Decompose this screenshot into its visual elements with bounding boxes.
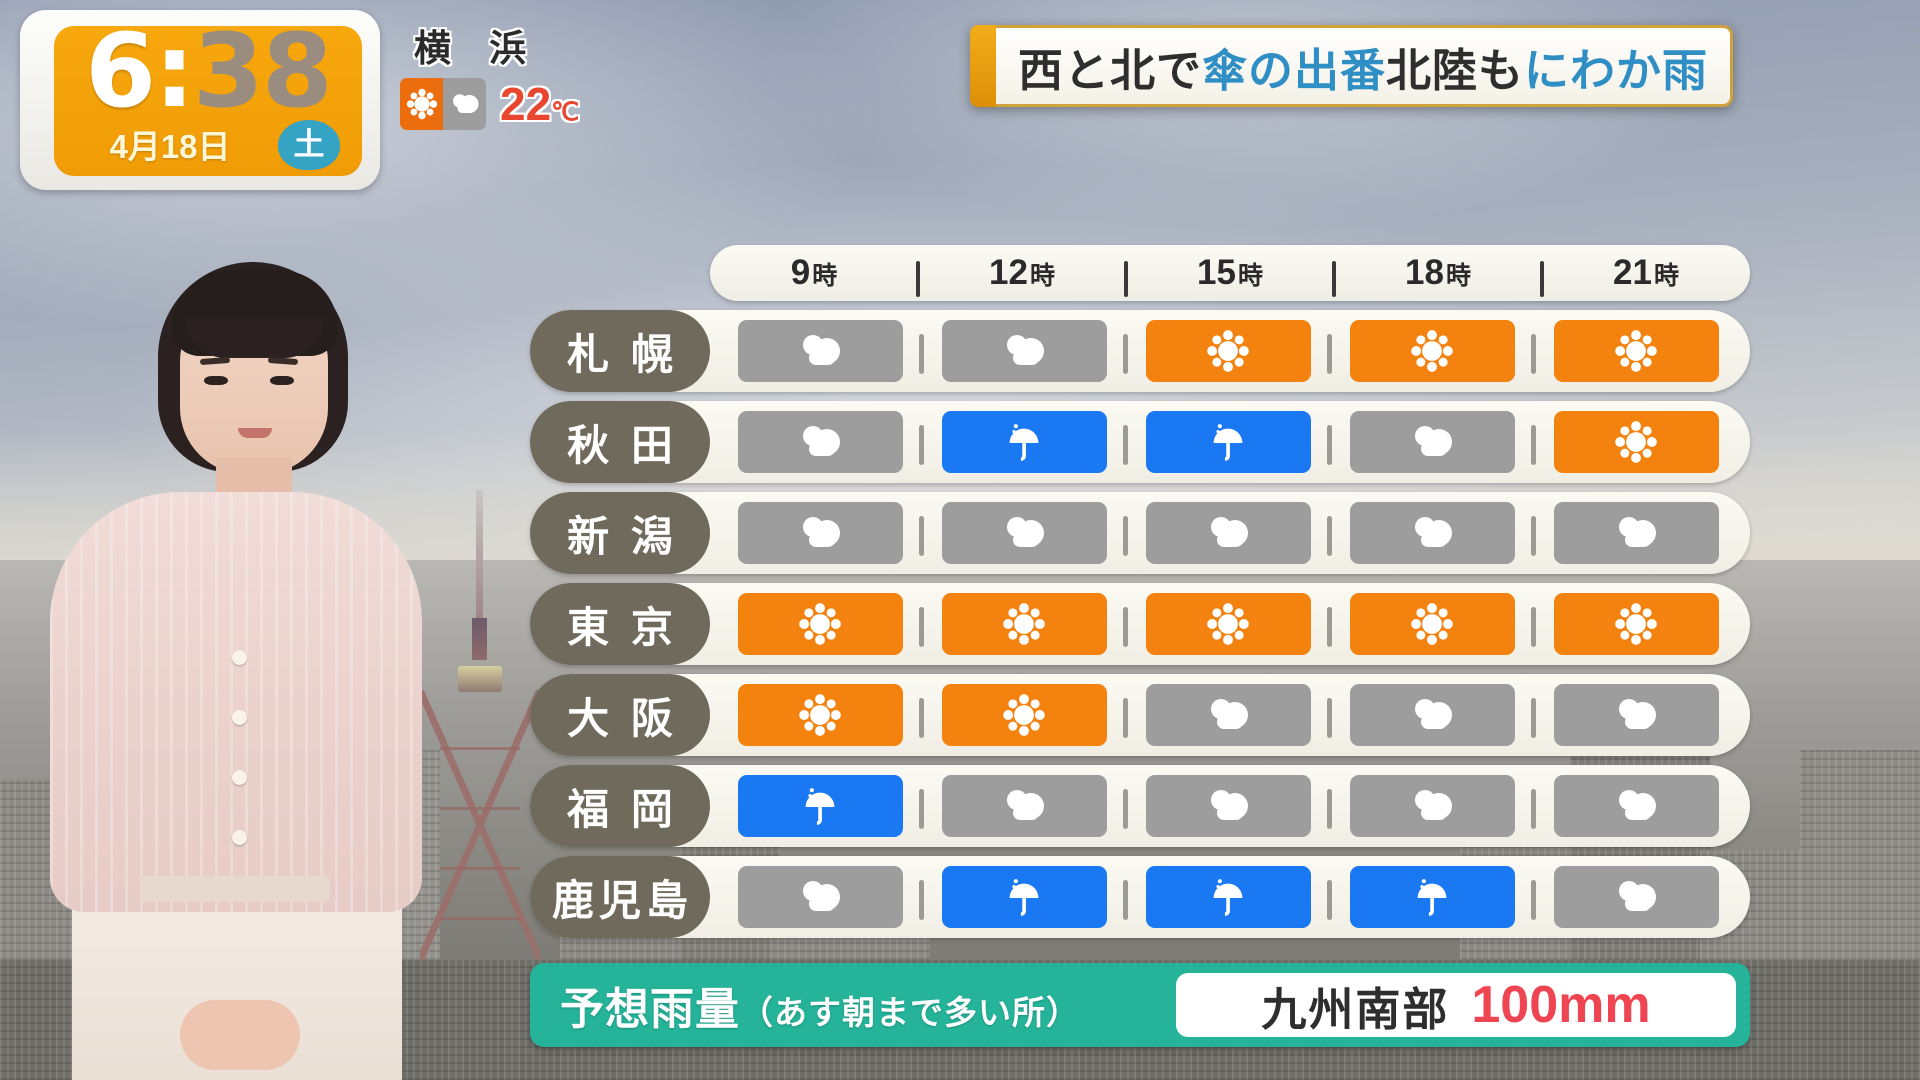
headline-part1: 西と北で [1018, 34, 1202, 99]
forecast-cell-cloudy [942, 320, 1107, 382]
sun-icon [1613, 328, 1659, 374]
cloud-icon [1200, 513, 1256, 553]
table-row: 大 阪 [530, 674, 1750, 756]
forecast-cell-sunny [1554, 593, 1719, 655]
forecast-cell-wrapper [922, 775, 1126, 837]
time-header-unit: 時 [1446, 262, 1471, 290]
sun-icon [1409, 328, 1455, 374]
forecast-cell-wrapper [1534, 593, 1738, 655]
time-header-value: 9 [791, 253, 810, 292]
forecast-cells [710, 310, 1750, 392]
forecast-cell-sunny [1146, 593, 1311, 655]
sun-icon [1001, 601, 1047, 647]
forecast-cell-wrapper [1330, 775, 1534, 837]
current-conditions: 横 浜 [400, 18, 630, 133]
cloud-icon [996, 513, 1052, 553]
table-row: 秋 田 [530, 401, 1750, 483]
forecast-cell-wrapper [1534, 502, 1738, 564]
forecast-cell-wrapper [922, 502, 1126, 564]
umbrella-icon [1206, 874, 1250, 920]
forecast-cell-wrapper [1534, 411, 1738, 473]
time-header-unit: 時 [1238, 262, 1263, 290]
time-header-15: 15時 [1126, 253, 1334, 293]
time-header-unit: 時 [812, 262, 837, 290]
table-row: 東 京 [530, 583, 1750, 665]
headline-tab [970, 25, 996, 107]
headline-text: 西と北で傘の出番 北陸もにわか雨 [996, 25, 1733, 107]
forecast-cell-wrapper [1126, 502, 1330, 564]
forecast-cell-wrapper [922, 866, 1126, 928]
forecast-cell-wrapper [1330, 866, 1534, 928]
umbrella-icon [1002, 419, 1046, 465]
forecast-cell-wrapper [718, 684, 922, 746]
city-label: 東 京 [530, 583, 710, 665]
headline-part2: 傘の出番 [1202, 34, 1386, 99]
time-header-21: 21時 [1542, 253, 1750, 293]
forecast-cell-cloudy [1554, 775, 1719, 837]
forecast-cell-wrapper [1534, 684, 1738, 746]
forecast-cell-wrapper [1126, 593, 1330, 655]
headline-part4: にわか雨 [1524, 34, 1708, 99]
forecast-cell-cloudy [1350, 684, 1515, 746]
current-temperature-value: 22 [500, 78, 551, 130]
forecast-cell-rain [1350, 866, 1515, 928]
clock-widget: 6:38 4月18日 土 [20, 10, 380, 190]
forecast-cell-cloudy [1146, 775, 1311, 837]
cloud-icon [1608, 695, 1664, 735]
city-label: 福 岡 [530, 765, 710, 847]
cloud-icon [792, 513, 848, 553]
forecast-cells [710, 583, 1750, 665]
cloud-icon [1200, 786, 1256, 826]
forecast-cell-wrapper [1126, 411, 1330, 473]
city-label: 新 潟 [530, 492, 710, 574]
time-header-9: 9時 [710, 253, 918, 293]
forecast-cell-rain [942, 866, 1107, 928]
rainfall-label-sub: （あす朝まで多い所） [740, 986, 1080, 1034]
current-temperature-unit: ℃ [551, 98, 579, 126]
forecast-cell-sunny [1146, 320, 1311, 382]
sun-icon [797, 692, 843, 738]
clock-minute-ones: 8 [262, 12, 331, 131]
forecast-cell-cloudy [738, 866, 903, 928]
rainfall-label-main: 予想雨量 [560, 973, 740, 1037]
cloud-icon [1404, 695, 1460, 735]
city-label: 札 幌 [530, 310, 710, 392]
forecast-cell-sunny [738, 593, 903, 655]
cloud-icon [1404, 513, 1460, 553]
forecast-cell-wrapper [1126, 866, 1330, 928]
forecast-cell-wrapper [922, 320, 1126, 382]
forecast-cell-cloudy [1554, 684, 1719, 746]
clock-colon: : [154, 12, 193, 131]
time-header-value: 15 [1197, 253, 1236, 292]
forecast-cell-wrapper [1330, 684, 1534, 746]
forecast-cell-cloudy [1146, 502, 1311, 564]
table-row: 鹿児島 [530, 856, 1750, 938]
forecast-cell-wrapper [718, 866, 922, 928]
forecast-cells [710, 674, 1750, 756]
current-weather-icon [400, 78, 486, 130]
forecast-cells [710, 856, 1750, 938]
forecast-cell-wrapper [922, 684, 1126, 746]
rainfall-amount: 100mm [1471, 975, 1650, 1035]
city-label: 大 阪 [530, 674, 710, 756]
forecast-cell-wrapper [1330, 320, 1534, 382]
forecast-cell-rain [1146, 866, 1311, 928]
time-header-value: 21 [1613, 253, 1652, 292]
cloud-icon [996, 786, 1052, 826]
cloud-icon [443, 78, 486, 130]
cloud-icon [1608, 877, 1664, 917]
city-label: 秋 田 [530, 401, 710, 483]
forecast-cell-wrapper [1126, 775, 1330, 837]
forecast-cell-wrapper [1330, 593, 1534, 655]
forecast-cell-wrapper [922, 411, 1126, 473]
forecast-cell-wrapper [1534, 320, 1738, 382]
clock-card: 6:38 4月18日 土 [54, 26, 362, 176]
time-header-value: 12 [989, 253, 1028, 292]
city-label: 鹿児島 [530, 856, 710, 938]
table-row: 福 岡 [530, 765, 1750, 847]
umbrella-icon [798, 783, 842, 829]
clock-time: 6:38 [54, 18, 362, 125]
forecast-cell-sunny [1350, 593, 1515, 655]
time-header-18: 18時 [1334, 253, 1542, 293]
forecast-cell-wrapper [1126, 320, 1330, 382]
forecast-cell-wrapper [718, 593, 922, 655]
forecast-cell-wrapper [922, 593, 1126, 655]
rainfall-label: 予想雨量（あす朝まで多い所） [544, 973, 1176, 1037]
umbrella-icon [1002, 874, 1046, 920]
forecast-cell-wrapper [1534, 775, 1738, 837]
current-city-name: 横 浜 [400, 18, 630, 72]
cloud-icon [792, 331, 848, 371]
forecast-cell-sunny [1554, 320, 1719, 382]
cloud-icon [1200, 695, 1256, 735]
cloud-icon [792, 877, 848, 917]
headline-part3: 北陸も [1386, 34, 1524, 99]
forecast-cell-wrapper [718, 320, 922, 382]
forecast-cell-cloudy [942, 775, 1107, 837]
forecast-cell-rain [738, 775, 903, 837]
forecast-cell-cloudy [1146, 684, 1311, 746]
forecast-cell-rain [1146, 411, 1311, 473]
forecast-cell-rain [942, 411, 1107, 473]
clock-day-of-week: 土 [278, 120, 340, 170]
forecast-cell-wrapper [1126, 684, 1330, 746]
time-header-value: 18 [1405, 253, 1444, 292]
time-header-unit: 時 [1654, 262, 1679, 290]
forecast-cell-cloudy [1350, 775, 1515, 837]
sun-icon [797, 601, 843, 647]
forecast-cell-wrapper [718, 411, 922, 473]
presenter-figure [20, 240, 450, 1080]
forecast-cell-wrapper [1330, 502, 1534, 564]
forecast-cell-cloudy [738, 502, 903, 564]
cloud-icon [996, 331, 1052, 371]
time-header-row: 9時12時15時18時21時 [710, 245, 1750, 301]
forecast-cells [710, 492, 1750, 574]
cloud-icon [1608, 513, 1664, 553]
rainfall-value-box: 九州南部 100mm [1176, 973, 1736, 1037]
umbrella-icon [1206, 419, 1250, 465]
forecast-cell-sunny [942, 684, 1107, 746]
rainfall-area: 九州南部 [1261, 973, 1449, 1038]
clock-minute-tens: 3 [193, 12, 262, 131]
sun-icon [400, 78, 443, 130]
umbrella-icon [1410, 874, 1454, 920]
forecast-cell-wrapper [1330, 411, 1534, 473]
headline-banner: 西と北で傘の出番 北陸もにわか雨 [970, 25, 1733, 107]
table-row: 札 幌 [530, 310, 1750, 392]
sun-icon [1613, 601, 1659, 647]
sun-icon [1205, 328, 1251, 374]
forecast-cell-wrapper [1534, 866, 1738, 928]
time-header-12: 12時 [918, 253, 1126, 293]
sun-icon [1001, 692, 1047, 738]
forecast-cell-cloudy [738, 411, 903, 473]
cloud-icon [1608, 786, 1664, 826]
sun-icon [1205, 601, 1251, 647]
forecast-cell-cloudy [1350, 411, 1515, 473]
table-row: 新 潟 [530, 492, 1750, 574]
cloud-icon [792, 422, 848, 462]
forecast-cell-cloudy [942, 502, 1107, 564]
forecast-cell-sunny [942, 593, 1107, 655]
forecast-cells [710, 765, 1750, 847]
forecast-cells [710, 401, 1750, 483]
current-temperature: 22℃ [500, 81, 579, 127]
clock-hour: 6 [85, 12, 154, 131]
sun-icon [1613, 419, 1659, 465]
forecast-cell-cloudy [738, 320, 903, 382]
forecast-cell-cloudy [1350, 502, 1515, 564]
forecast-cell-wrapper [718, 775, 922, 837]
cloud-icon [1404, 422, 1460, 462]
forecast-cell-sunny [738, 684, 903, 746]
forecast-cell-cloudy [1554, 866, 1719, 928]
hourly-forecast-table: 9時12時15時18時21時 札 幌 [530, 245, 1750, 938]
rainfall-banner: 予想雨量（あす朝まで多い所） 九州南部 100mm [530, 963, 1750, 1047]
forecast-cell-sunny [1554, 411, 1719, 473]
time-header-unit: 時 [1030, 262, 1055, 290]
forecast-cell-cloudy [1554, 502, 1719, 564]
forecast-cell-sunny [1350, 320, 1515, 382]
cloud-icon [1404, 786, 1460, 826]
forecast-cell-wrapper [718, 502, 922, 564]
clock-date: 4月18日 [70, 120, 270, 168]
sun-icon [1409, 601, 1455, 647]
